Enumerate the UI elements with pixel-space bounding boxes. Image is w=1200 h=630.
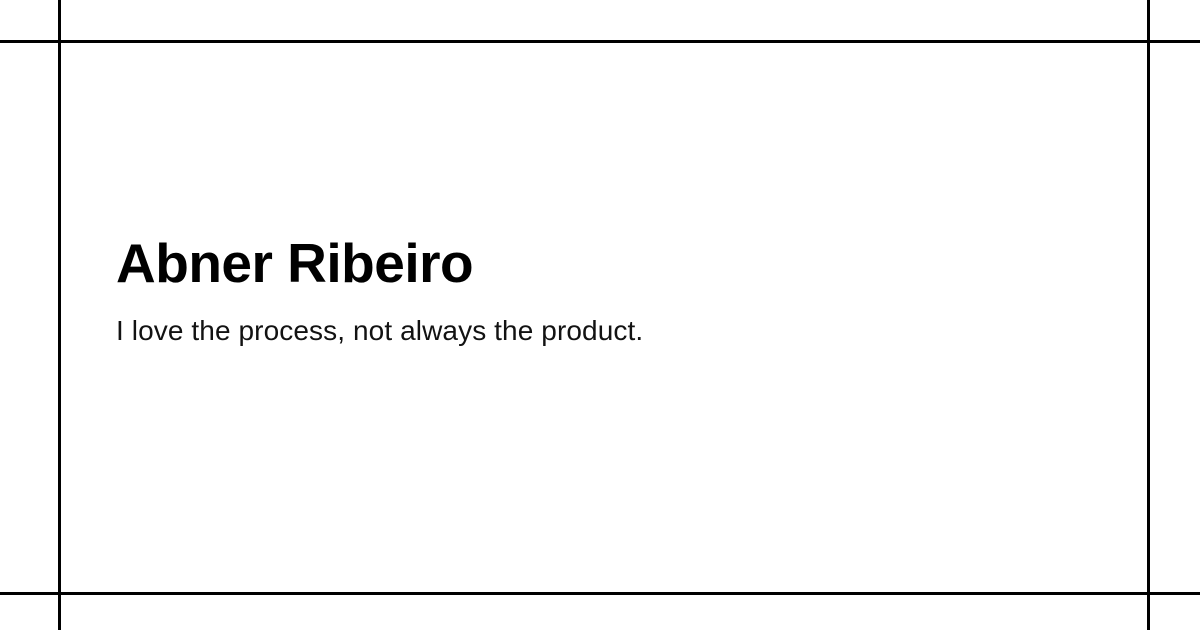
left-vertical-rule (58, 0, 61, 630)
text-block: Abner Ribeiro I love the process, not al… (116, 232, 1076, 348)
right-vertical-rule (1147, 0, 1150, 630)
page-subtitle: I love the process, not always the produ… (116, 294, 1076, 348)
open-graph-card: Abner Ribeiro I love the process, not al… (0, 0, 1200, 630)
bottom-horizontal-rule (0, 592, 1200, 595)
top-horizontal-rule (0, 40, 1200, 43)
page-title: Abner Ribeiro (116, 232, 1076, 294)
